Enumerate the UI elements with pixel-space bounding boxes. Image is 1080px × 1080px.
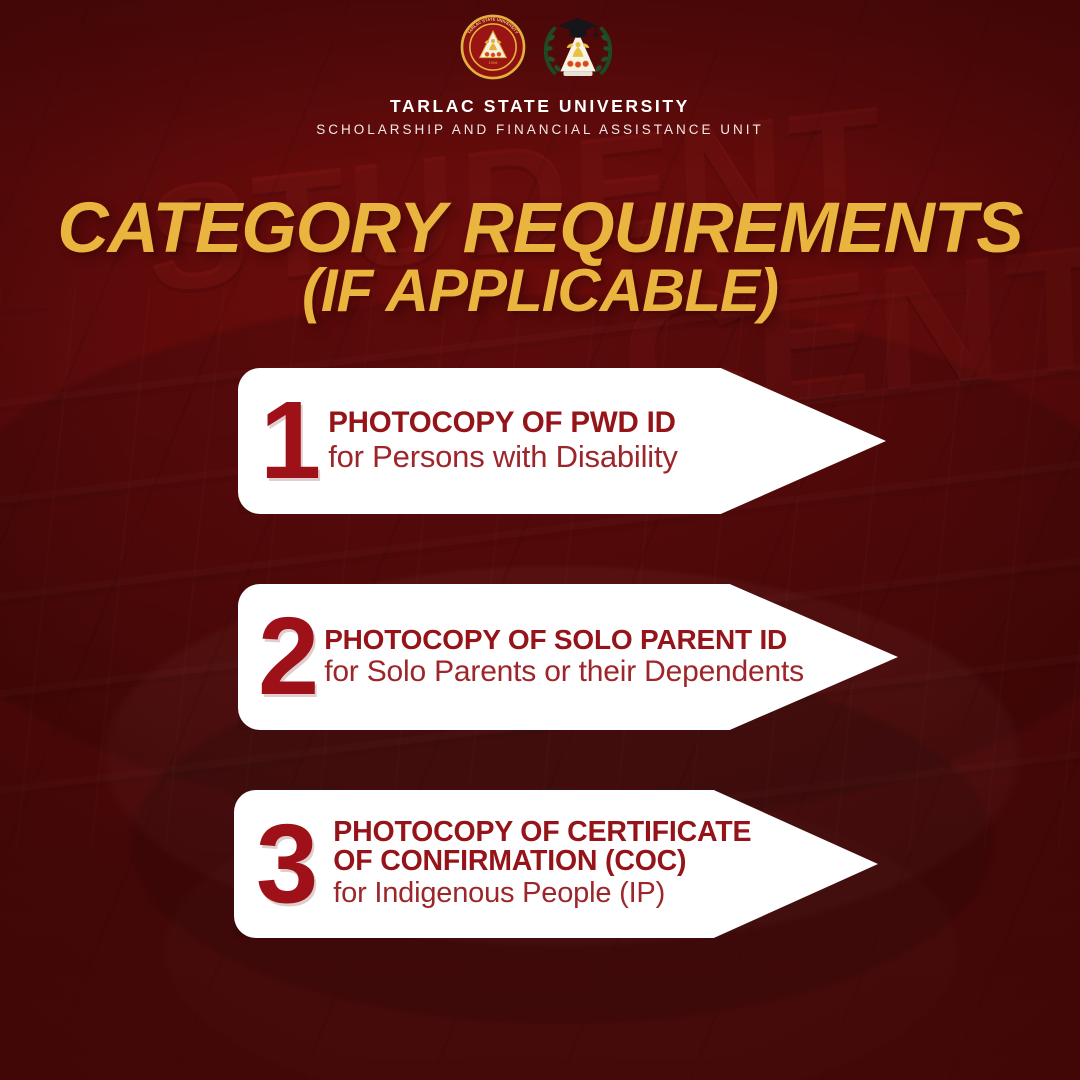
requirement-number: 3 [256,818,315,910]
organization-name: TARLAC STATE UNIVERSITY [390,96,690,117]
page-title-line-1: CATEGORY REQUIREMENTS [0,196,1080,261]
requirement-number: 1 [260,396,318,486]
page-title: CATEGORY REQUIREMENTS (IF APPLICABLE) [0,196,1080,319]
organization-unit: SCHOLARSHIP AND FINANCIAL ASSISTANCE UNI… [316,122,764,137]
tsu-university-seal-icon: 1906 TARLAC STATE UNIVERSITY [460,14,526,80]
page-title-line-2: (IF APPLICABLE) [0,263,1080,318]
requirement-heading: PHOTOCOPY OF PWD ID [328,408,886,438]
graduation-cap-icon [559,18,598,38]
sfau-graduation-cap-wreath-icon [536,11,620,89]
requirement-subtext: for Solo Parents or their Dependents [324,656,898,688]
logo-group: 1906 TARLAC STATE UNIVERSITY [460,14,620,88]
requirement-heading: PHOTOCOPY OF SOLO PARENT ID [324,626,898,655]
poster-canvas: STUDENT CENTER [0,0,1080,1080]
header: 1906 TARLAC STATE UNIVERSITY [0,14,1080,137]
requirement-number: 2 [258,612,316,702]
requirement-subtext: for Persons with Disability [328,440,886,473]
svg-text:1906: 1906 [488,61,497,65]
requirement-heading-line-2: OF CONFIRMATION (COC) [333,847,878,876]
